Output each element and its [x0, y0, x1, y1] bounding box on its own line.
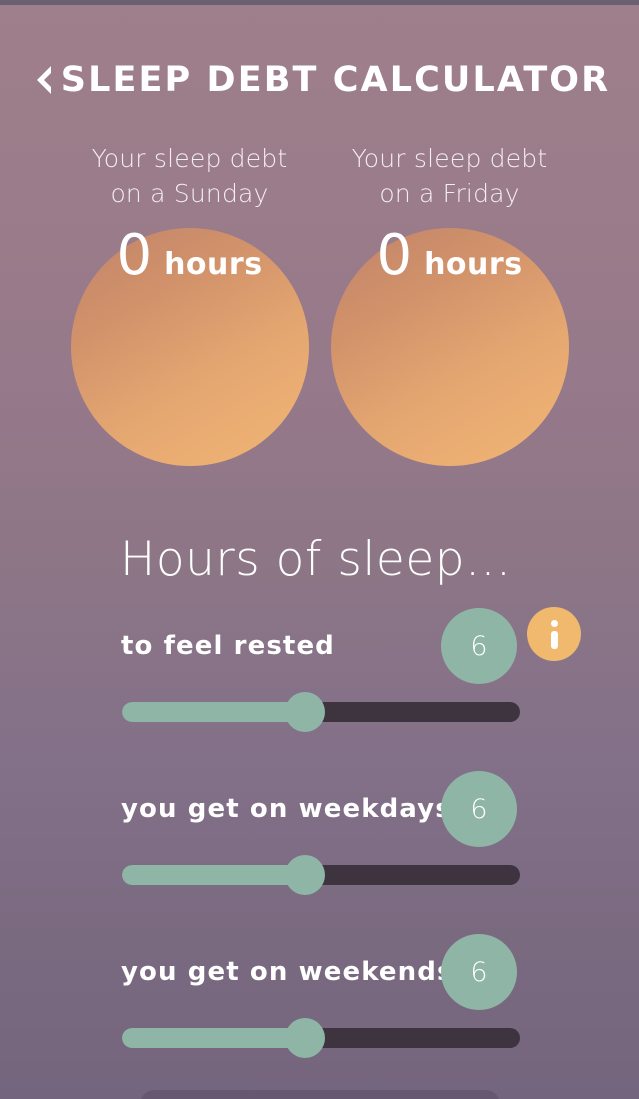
sleep-debt-sunday: Your sleep debt on a Sunday 0 hours — [71, 142, 309, 466]
app-header: SLEEP DEBT CALCULATOR — [0, 52, 639, 108]
info-icon-stem — [551, 631, 558, 649]
info-icon[interactable] — [527, 607, 581, 661]
sleep-debt-unit: hours — [164, 250, 262, 280]
status-bar — [0, 0, 639, 5]
slider-value-badge: 6 — [441, 771, 517, 847]
section-title: Hours of sleep... — [120, 536, 639, 583]
info-icon-dot — [551, 620, 558, 627]
slider-label: you get on weekdays — [121, 796, 452, 822]
slider-header: you get on weekdays 6 — [0, 771, 639, 847]
sleep-debt-caption: Your sleep debt on a Friday — [352, 142, 548, 211]
slider-track[interactable] — [122, 702, 520, 722]
sleep-debt-unit: hours — [424, 250, 522, 280]
slider-label: to feel rested — [121, 633, 335, 659]
slider-row — [0, 689, 639, 735]
slider-thumb[interactable] — [285, 692, 325, 732]
slider-row — [0, 852, 639, 898]
slider-track[interactable] — [122, 1028, 520, 1048]
slider-header: you get on weekends 6 — [0, 934, 639, 1010]
slider-row — [0, 1015, 639, 1061]
sleep-debt-bubble: 0 hours — [331, 228, 569, 466]
slider-label: you get on weekends — [121, 959, 454, 985]
sleep-debt-value: 0 — [116, 228, 152, 284]
sleep-debt-bubble: 0 hours — [71, 228, 309, 466]
bottom-sheet-edge — [140, 1090, 500, 1099]
page-title: SLEEP DEBT CALCULATOR — [61, 63, 610, 98]
sleep-debt-results: Your sleep debt on a Sunday 0 hours Your… — [0, 142, 639, 466]
slider-thumb[interactable] — [285, 1018, 325, 1058]
slider-track-fill — [122, 702, 305, 722]
slider-track-fill — [122, 1028, 305, 1048]
slider-track-fill — [122, 865, 305, 885]
slider-value-badge: 6 — [441, 608, 517, 684]
sleep-debt-friday: Your sleep debt on a Friday 0 hours — [331, 142, 569, 466]
slider-group-weekends: you get on weekends 6 — [0, 934, 639, 1061]
sleep-debt-value: 0 — [376, 228, 412, 284]
slider-value-badge: 6 — [441, 934, 517, 1010]
sleep-debt-calculator-screen: SLEEP DEBT CALCULATOR Your sleep debt on… — [0, 0, 639, 1099]
slider-group-weekdays: you get on weekdays 6 — [0, 771, 639, 898]
back-chevron-icon[interactable] — [29, 63, 59, 97]
sleep-debt-caption: Your sleep debt on a Sunday — [92, 142, 288, 211]
slider-track[interactable] — [122, 865, 520, 885]
slider-thumb[interactable] — [285, 855, 325, 895]
